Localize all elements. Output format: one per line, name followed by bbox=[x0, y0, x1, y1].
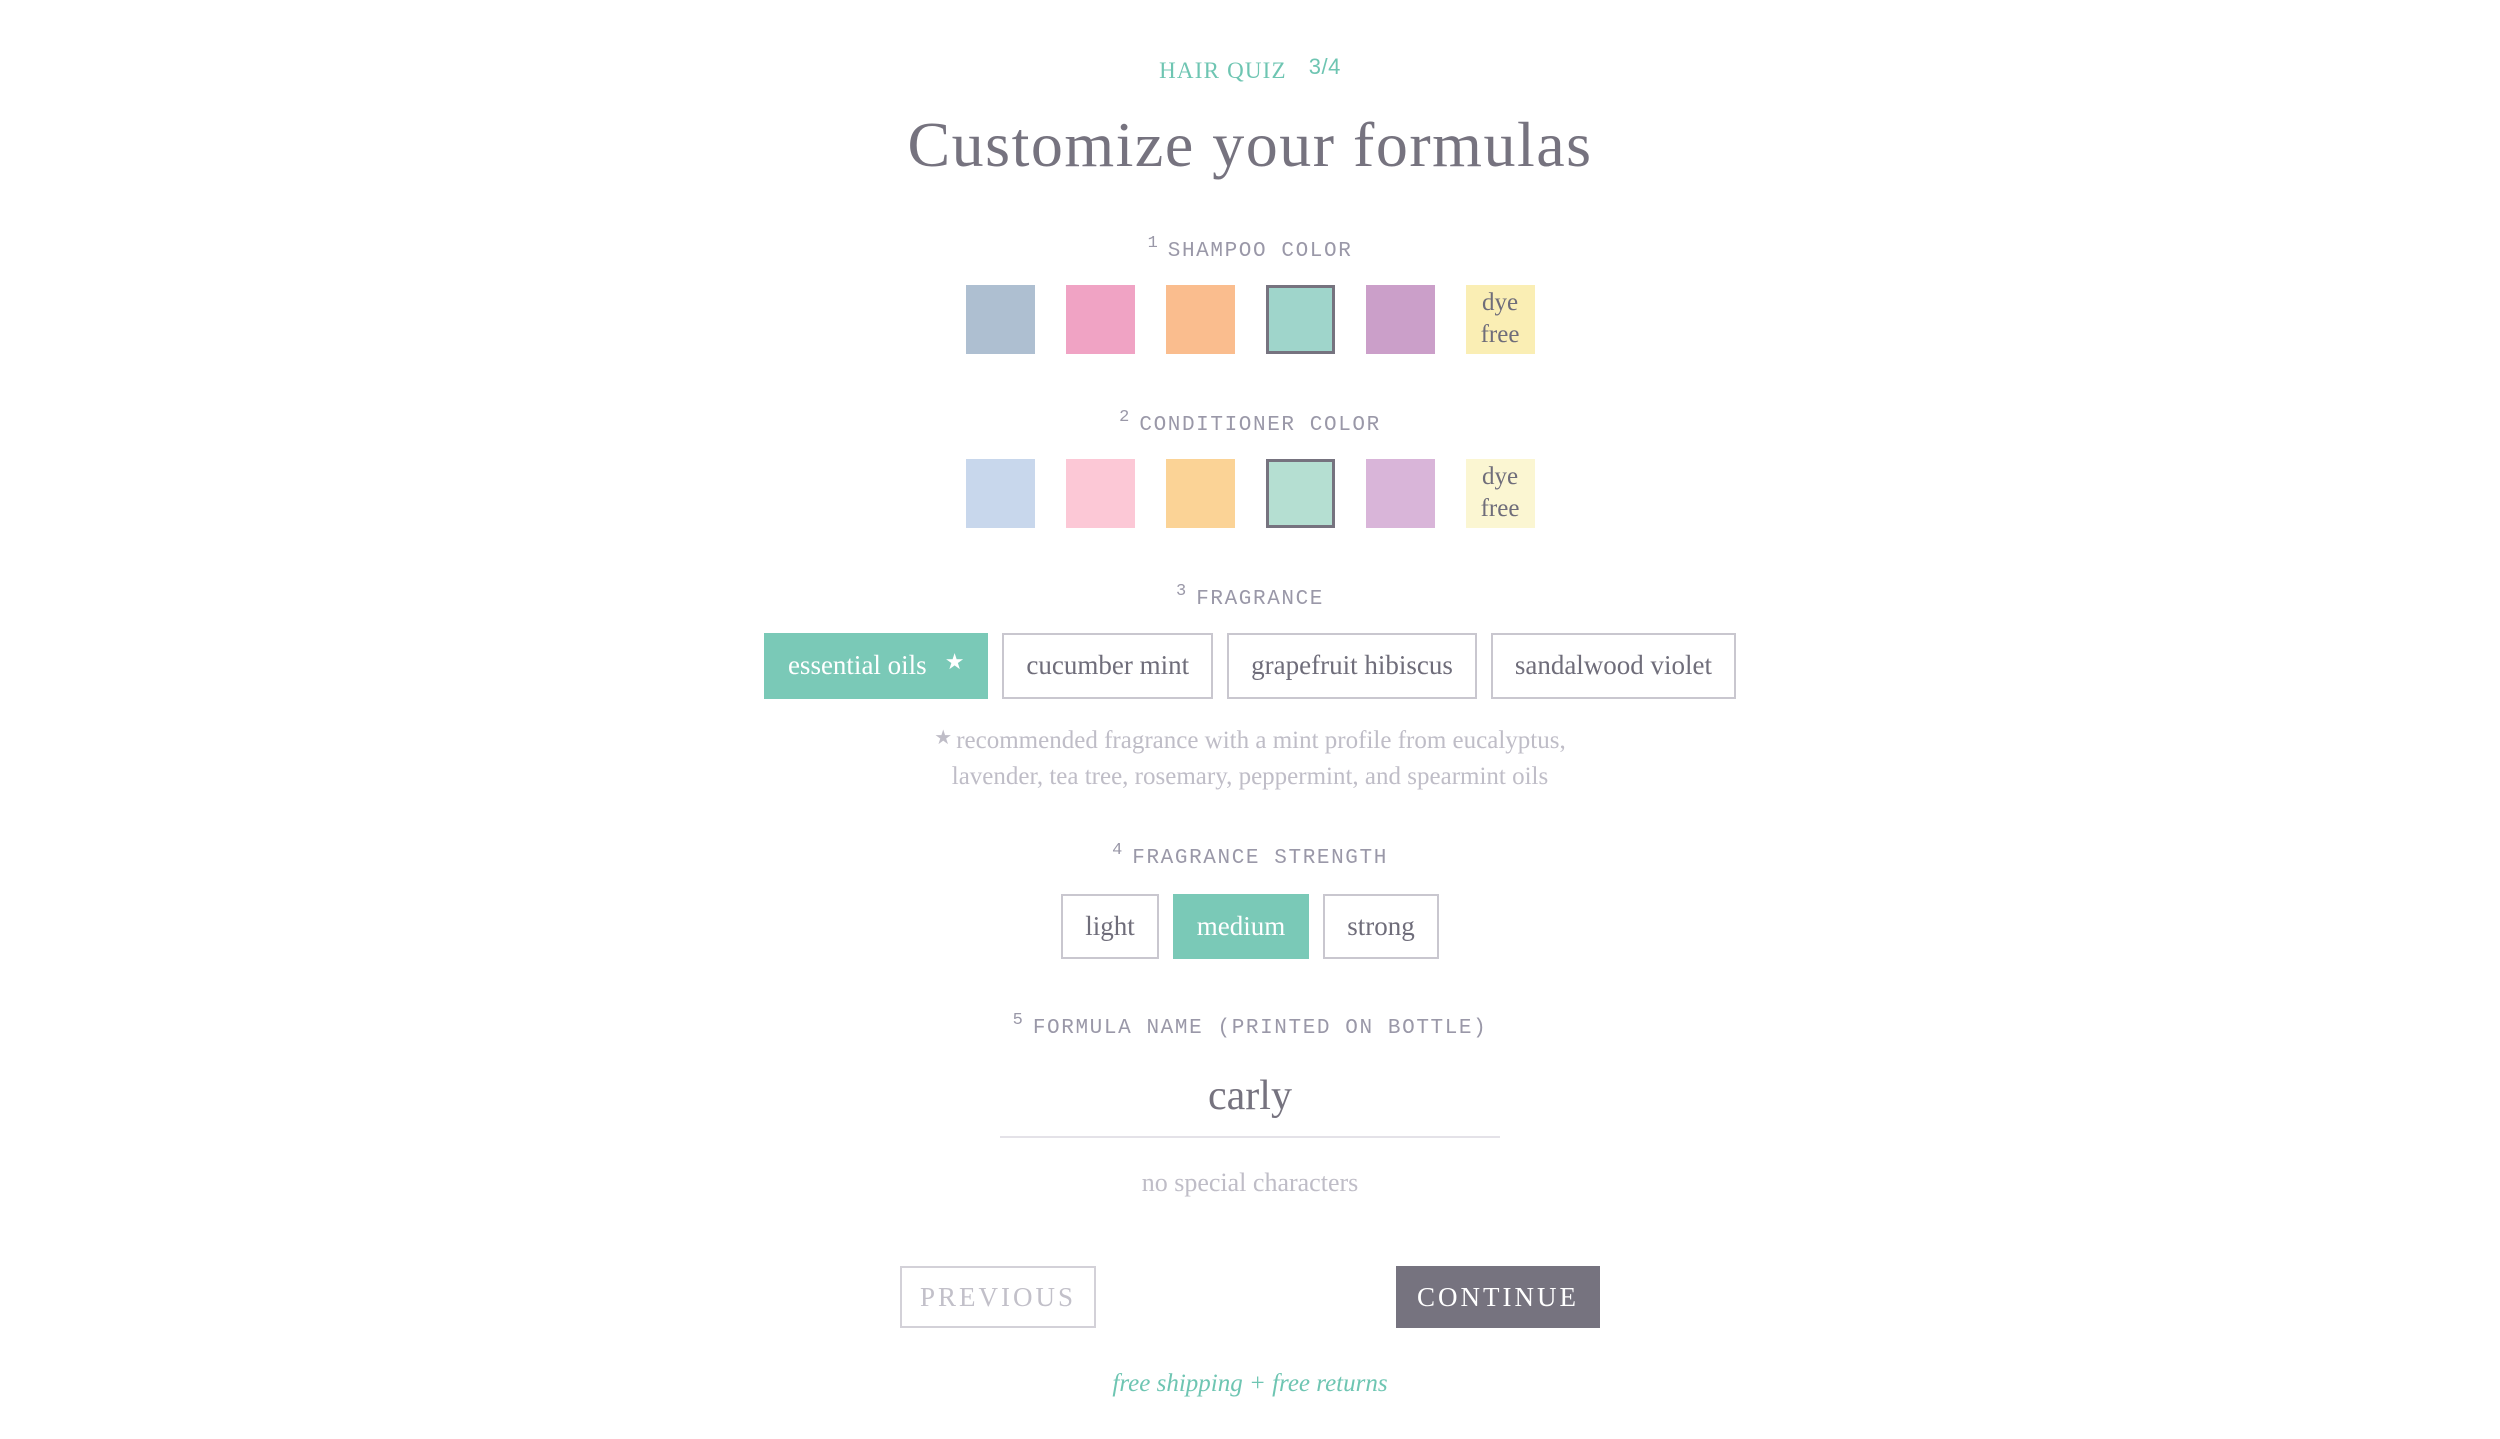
section-number: 1 bbox=[1148, 234, 1158, 253]
strength-option-label: light bbox=[1085, 911, 1135, 942]
shampoo-swatch-blue-gray[interactable] bbox=[966, 285, 1035, 354]
shampoo-swatch-pink[interactable] bbox=[1066, 285, 1135, 354]
conditioner-swatch-blue-gray[interactable] bbox=[966, 459, 1035, 528]
section-formula-name: 5 FORMULA NAME (PRINTED ON BOTTLE) no sp… bbox=[0, 1017, 2500, 1198]
section-conditioner-color: 2 CONDITIONER COLOR dye free bbox=[0, 414, 2500, 528]
fragrance-option-row: essential oils ★ cucumber mint grapefrui… bbox=[764, 633, 1736, 699]
section-shampoo-color: 1 SHAMPOO COLOR dye free bbox=[0, 240, 2500, 354]
dye-free-line-2: free bbox=[1481, 319, 1520, 351]
page-title: Customize your formulas bbox=[907, 108, 1592, 182]
fragrance-option-grapefruit-hibiscus[interactable]: grapefruit hibiscus bbox=[1227, 633, 1477, 699]
fragrance-option-cucumber-mint[interactable]: cucumber mint bbox=[1002, 633, 1213, 699]
strength-option-medium[interactable]: medium bbox=[1173, 894, 1310, 959]
section-number: 5 bbox=[1013, 1011, 1023, 1030]
conditioner-swatch-teal[interactable] bbox=[1266, 459, 1335, 528]
section-label-text: FRAGRANCE STRENGTH bbox=[1132, 847, 1388, 870]
recommended-star-icon: ★ bbox=[945, 651, 965, 673]
section-number: 3 bbox=[1176, 582, 1186, 601]
section-label-text: FORMULA NAME (PRINTED ON BOTTLE) bbox=[1033, 1017, 1487, 1040]
shampoo-swatch-dye-free[interactable]: dye free bbox=[1466, 285, 1535, 354]
dye-free-line-1: dye bbox=[1482, 461, 1518, 493]
section-label-text: SHAMPOO COLOR bbox=[1168, 240, 1353, 263]
dye-free-line-2: free bbox=[1481, 493, 1520, 525]
strength-option-label: strong bbox=[1347, 911, 1415, 942]
strength-option-row: light medium strong bbox=[1061, 894, 1439, 959]
section-label-strength: 4 FRAGRANCE STRENGTH bbox=[1112, 847, 1388, 870]
section-fragrance-strength: 4 FRAGRANCE STRENGTH light medium strong bbox=[0, 847, 2500, 959]
fragrance-option-label: sandalwood violet bbox=[1515, 650, 1712, 681]
conditioner-swatch-orange[interactable] bbox=[1166, 459, 1235, 528]
quiz-step-indicator: 3/4 bbox=[1309, 56, 1341, 78]
conditioner-swatch-dye-free[interactable]: dye free bbox=[1466, 459, 1535, 528]
fragrance-option-label: cucumber mint bbox=[1026, 650, 1189, 681]
fragrance-option-label: essential oils bbox=[788, 650, 927, 681]
fragrance-footnote: ★recommended fragrance with a mint profi… bbox=[905, 723, 1595, 796]
shipping-note: free shipping + free returns bbox=[1112, 1370, 1387, 1398]
quiz-eyebrow: HAIR QUIZ 3/4 bbox=[1159, 56, 1341, 86]
fragrance-option-label: grapefruit hibiscus bbox=[1251, 650, 1453, 681]
section-label-formula-name: 5 FORMULA NAME (PRINTED ON BOTTLE) bbox=[1013, 1017, 1488, 1040]
section-fragrance: 3 FRAGRANCE essential oils ★ cucumber mi… bbox=[0, 588, 2500, 796]
quiz-name-label: HAIR QUIZ bbox=[1159, 56, 1287, 86]
section-label-conditioner: 2 CONDITIONER COLOR bbox=[1119, 414, 1381, 437]
conditioner-swatch-purple[interactable] bbox=[1366, 459, 1435, 528]
shampoo-swatch-purple[interactable] bbox=[1366, 285, 1435, 354]
fragrance-option-essential-oils[interactable]: essential oils ★ bbox=[764, 633, 988, 699]
strength-option-label: medium bbox=[1197, 911, 1286, 942]
quiz-nav-row: PREVIOUS CONTINUE bbox=[900, 1266, 1600, 1328]
previous-button[interactable]: PREVIOUS bbox=[900, 1266, 1096, 1328]
dye-free-line-1: dye bbox=[1482, 287, 1518, 319]
fragrance-option-sandalwood-violet[interactable]: sandalwood violet bbox=[1491, 633, 1736, 699]
strength-option-strong[interactable]: strong bbox=[1323, 894, 1439, 959]
footnote-star-icon: ★ bbox=[934, 727, 952, 749]
conditioner-swatch-row: dye free bbox=[966, 459, 1535, 528]
strength-option-light[interactable]: light bbox=[1061, 894, 1159, 959]
section-label-shampoo: 1 SHAMPOO COLOR bbox=[1148, 240, 1353, 263]
section-number: 4 bbox=[1112, 841, 1122, 860]
formula-name-hint: no special characters bbox=[1142, 1168, 1359, 1198]
formula-name-field-wrap: no special characters bbox=[1000, 1066, 1500, 1198]
section-label-text: CONDITIONER COLOR bbox=[1139, 414, 1380, 437]
section-number: 2 bbox=[1119, 408, 1129, 427]
continue-button[interactable]: CONTINUE bbox=[1396, 1266, 1600, 1328]
shampoo-swatch-teal[interactable] bbox=[1266, 285, 1335, 354]
shampoo-swatch-row: dye free bbox=[966, 285, 1535, 354]
section-label-text: FRAGRANCE bbox=[1196, 588, 1324, 611]
formula-name-input[interactable] bbox=[1000, 1066, 1500, 1138]
section-label-fragrance: 3 FRAGRANCE bbox=[1176, 588, 1324, 611]
shampoo-swatch-orange[interactable] bbox=[1166, 285, 1235, 354]
footnote-text: recommended fragrance with a mint profil… bbox=[952, 727, 1566, 790]
hair-quiz-page: HAIR QUIZ 3/4 Customize your formulas 1 … bbox=[0, 0, 2500, 1439]
conditioner-swatch-pink[interactable] bbox=[1066, 459, 1135, 528]
